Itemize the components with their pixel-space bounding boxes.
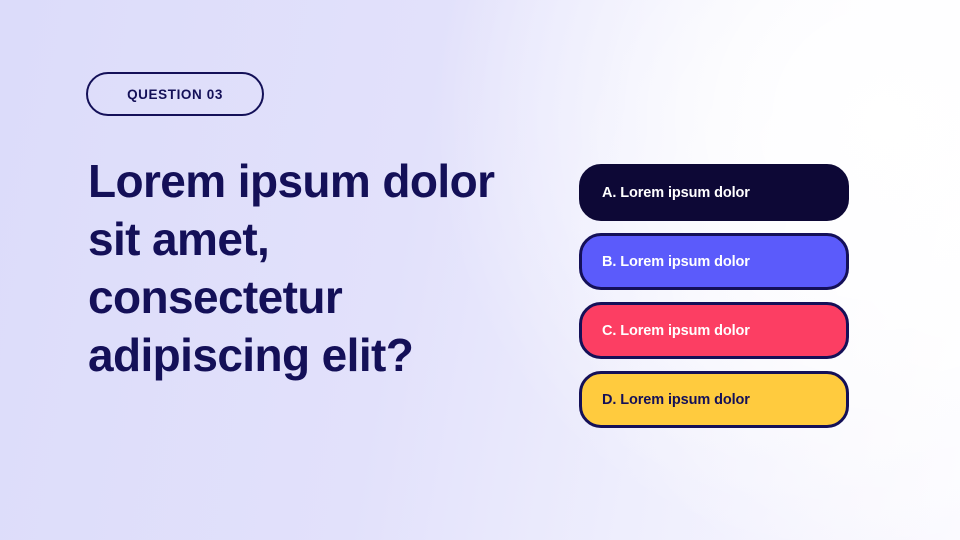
answer-option-a-label: A. Lorem ipsum dolor xyxy=(602,185,750,201)
answer-option-b[interactable]: B. Lorem ipsum dolor xyxy=(579,233,849,290)
answer-option-c-label: C. Lorem ipsum dolor xyxy=(602,323,750,339)
question-number-label: QUESTION 03 xyxy=(127,87,223,102)
slide-content: QUESTION 03 Lorem ipsum dolor sit amet, … xyxy=(0,0,960,540)
question-title: Lorem ipsum dolor sit amet, consectetur … xyxy=(88,152,518,384)
answer-option-b-label: B. Lorem ipsum dolor xyxy=(602,254,750,270)
answer-option-d-label: D. Lorem ipsum dolor xyxy=(602,392,750,408)
quiz-slide: QUESTION 03 Lorem ipsum dolor sit amet, … xyxy=(0,0,960,540)
answer-option-d[interactable]: D. Lorem ipsum dolor xyxy=(579,371,849,428)
answer-options-list: A. Lorem ipsum dolor B. Lorem ipsum dolo… xyxy=(579,164,849,428)
question-number-badge: QUESTION 03 xyxy=(86,72,264,116)
answer-option-a[interactable]: A. Lorem ipsum dolor xyxy=(579,164,849,221)
answer-option-c[interactable]: C. Lorem ipsum dolor xyxy=(579,302,849,359)
